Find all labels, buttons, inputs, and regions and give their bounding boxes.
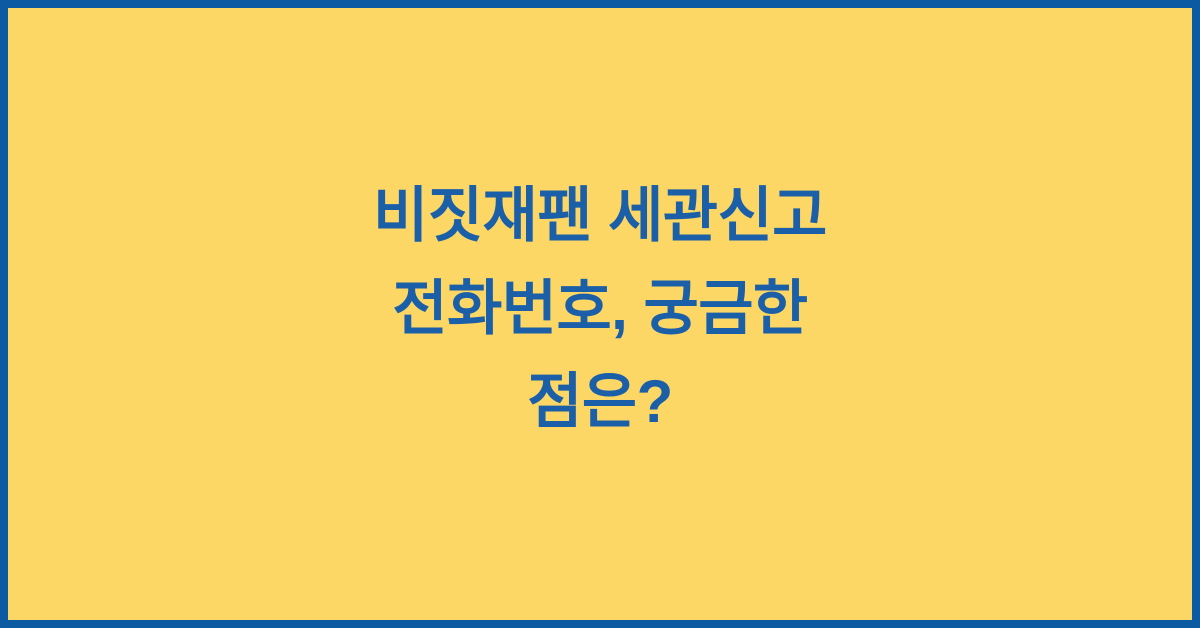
thumbnail-card: 비짓재팬 세관신고 전화번호, 궁금한 점은? <box>0 0 1200 628</box>
headline-line-2: 전화번호, 궁금한 <box>392 262 807 355</box>
headline-line-1: 비짓재팬 세관신고 <box>373 169 827 262</box>
headline-line-3: 점은? <box>527 355 673 448</box>
headline-block: 비짓재팬 세관신고 전화번호, 궁금한 점은? <box>220 169 980 448</box>
